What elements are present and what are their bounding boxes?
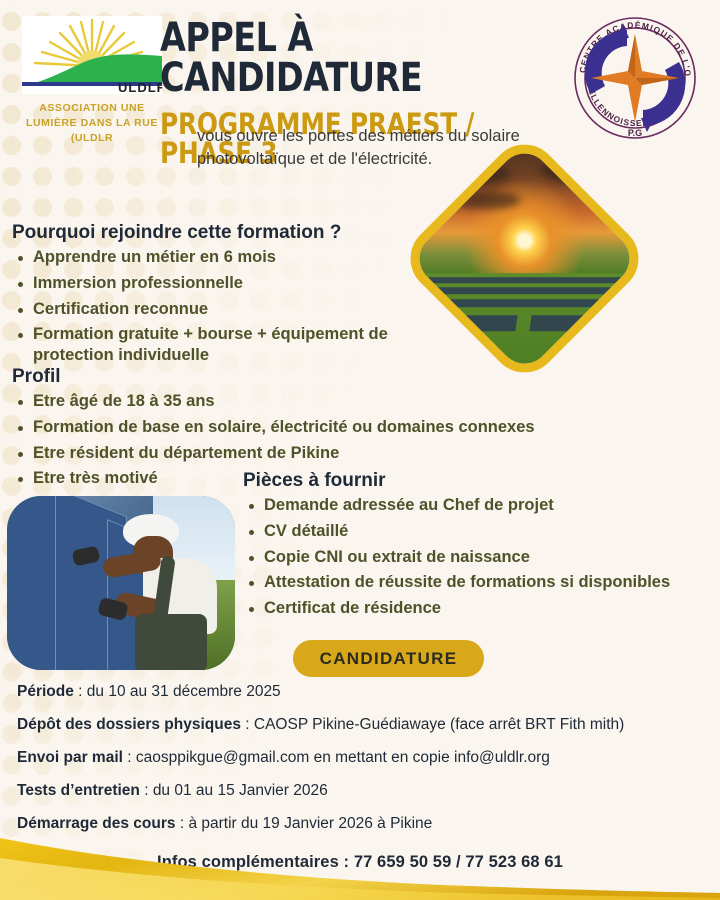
detail-value: du 10 au 31 décembre 2025 bbox=[87, 683, 281, 700]
section-pourquoi-title: Pourquoi rejoindre cette formation ? bbox=[12, 222, 412, 244]
detail-row-demarrage: Démarrage des cours : à partir du 19 Jan… bbox=[17, 815, 717, 834]
list-item: Copie CNI ou extrait de naissance bbox=[243, 547, 713, 568]
list-item: Immersion professionnelle bbox=[12, 273, 412, 294]
poster-canvas: ULDLR ASSOCIATION UNE LUMIÈRE DANS LA RU… bbox=[0, 0, 720, 900]
page-title: APPEL À CANDIDATURE bbox=[160, 18, 532, 98]
section-pourquoi-list: Apprendre un métier en 6 mois Immersion … bbox=[12, 247, 412, 366]
uldlr-logo: ULDLR ASSOCIATION UNE LUMIÈRE DANS LA RU… bbox=[18, 16, 166, 147]
section-pieces-title: Pièces à fournir bbox=[243, 470, 713, 492]
caosp-logo-svg: CENTRE ACADÉMIQUE DE L'ORIENTATION SCOLA… bbox=[565, 8, 705, 148]
list-item: Apprendre un métier en 6 mois bbox=[12, 247, 412, 268]
section-pieces: Pièces à fournir Demande adressée au Che… bbox=[243, 470, 713, 624]
detail-label: Période bbox=[17, 683, 74, 700]
footer-wave-decoration bbox=[0, 836, 720, 900]
list-item: Etre âgé de 18 à 35 ans bbox=[12, 391, 612, 412]
uldlr-logo-caption: ASSOCIATION UNE LUMIÈRE DANS LA RUE (ULD… bbox=[18, 101, 166, 147]
list-item: CV détaillé bbox=[243, 521, 713, 542]
detail-value: caosppikgue@gmail.com en mettant en copi… bbox=[136, 749, 550, 766]
detail-value: du 01 au 15 Janvier 2026 bbox=[153, 782, 328, 799]
svg-text:ULDLR: ULDLR bbox=[118, 80, 162, 94]
candidature-button[interactable]: CANDIDATURE bbox=[293, 640, 484, 677]
list-item: Formation de base en solaire, électricit… bbox=[12, 417, 612, 438]
detail-label: Tests d’entretien bbox=[17, 782, 140, 799]
detail-row-tests: Tests d’entretien : du 01 au 15 Janvier … bbox=[17, 782, 717, 801]
section-profil-title: Profil bbox=[12, 366, 612, 388]
detail-row-depot: Dépôt des dossiers physiques : CAOSP Pik… bbox=[17, 716, 717, 735]
detail-sep: : bbox=[140, 782, 153, 799]
detail-row-mail: Envoi par mail : caosppikgue@gmail.com e… bbox=[17, 749, 717, 768]
detail-label: Dépôt des dossiers physiques bbox=[17, 716, 241, 733]
caosp-logo-icon: CENTRE ACADÉMIQUE DE L'ORIENTATION SCOLA… bbox=[565, 8, 705, 148]
svg-text:P.G: P.G bbox=[628, 128, 642, 138]
list-item: Demande adressée au Chef de projet bbox=[243, 495, 713, 516]
list-item: Formation gratuite + bourse + équipement… bbox=[12, 324, 412, 366]
list-item: Certificat de résidence bbox=[243, 598, 713, 619]
section-pourquoi: Pourquoi rejoindre cette formation ? App… bbox=[12, 222, 412, 371]
solar-technician-image bbox=[7, 496, 235, 670]
list-item: Etre résident du département de Pikine bbox=[12, 443, 612, 464]
sunrise-logo-icon: ULDLR bbox=[22, 16, 162, 94]
detail-label: Démarrage des cours bbox=[17, 815, 176, 832]
list-item: Attestation de réussite de formations si… bbox=[243, 572, 713, 593]
detail-sep: : bbox=[241, 716, 254, 733]
detail-value: CAOSP Pikine-Guédiawaye (face arrêt BRT … bbox=[254, 716, 624, 733]
details-block: Période : du 10 au 31 décembre 2025 Dépô… bbox=[17, 683, 717, 848]
list-item: Certification reconnue bbox=[12, 299, 412, 320]
detail-row-periode: Période : du 10 au 31 décembre 2025 bbox=[17, 683, 717, 702]
detail-sep: : bbox=[176, 815, 189, 832]
detail-sep: : bbox=[74, 683, 87, 700]
detail-sep: : bbox=[123, 749, 136, 766]
section-pieces-list: Demande adressée au Chef de projet CV dé… bbox=[243, 495, 713, 619]
detail-value: à partir du 19 Janvier 2026 à Pikine bbox=[188, 815, 432, 832]
detail-label: Envoi par mail bbox=[17, 749, 123, 766]
sunrise-logo-svg: ULDLR bbox=[22, 16, 162, 94]
tagline-text: vous ouvre les portes des métiers du sol… bbox=[197, 125, 527, 172]
